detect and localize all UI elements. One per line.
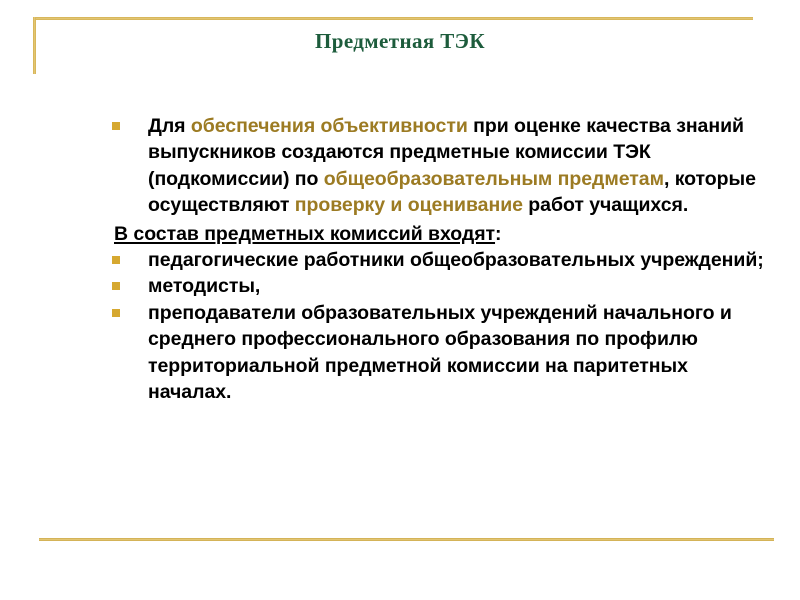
list-item-label: педагогические работники общеобразовател… bbox=[148, 249, 764, 271]
lead-in-underlined: В состав предметных комиссий входят bbox=[114, 223, 495, 245]
top-accent-rule bbox=[33, 17, 753, 20]
slide: Предметная ТЭК Для обеспечения объективн… bbox=[0, 0, 800, 600]
list-item: педагогические работники общеобразовател… bbox=[108, 247, 776, 273]
run-highlight: обеспечения объективности bbox=[191, 115, 468, 137]
slide-title: Предметная ТЭК bbox=[60, 28, 740, 54]
paragraph-lead-in: В состав предметных комиссий входят: bbox=[108, 221, 776, 247]
run-highlight: общеобразовательным предметам bbox=[324, 168, 664, 190]
list-item: преподаватели образовательных учреждений… bbox=[108, 300, 776, 406]
square-bullet-icon bbox=[112, 309, 120, 317]
paragraph-main: Для обеспечения объективности при оценке… bbox=[108, 113, 776, 219]
slide-body: Для обеспечения объективности при оценке… bbox=[108, 113, 776, 405]
list-item-label: преподаватели образовательных учреждений… bbox=[148, 302, 732, 403]
square-bullet-icon bbox=[112, 256, 120, 264]
left-accent-rule bbox=[33, 17, 36, 74]
square-bullet-icon bbox=[112, 282, 120, 290]
run-text: Для bbox=[148, 115, 191, 137]
lead-in-colon: : bbox=[495, 223, 501, 245]
run-text: работ учащихся. bbox=[523, 194, 688, 216]
list-item-label: методисты, bbox=[148, 275, 260, 297]
list-item: методисты, bbox=[108, 273, 776, 299]
run-highlight: проверку и оценивание bbox=[295, 194, 523, 216]
square-bullet-icon bbox=[112, 122, 120, 130]
bottom-accent-rule bbox=[39, 538, 774, 541]
